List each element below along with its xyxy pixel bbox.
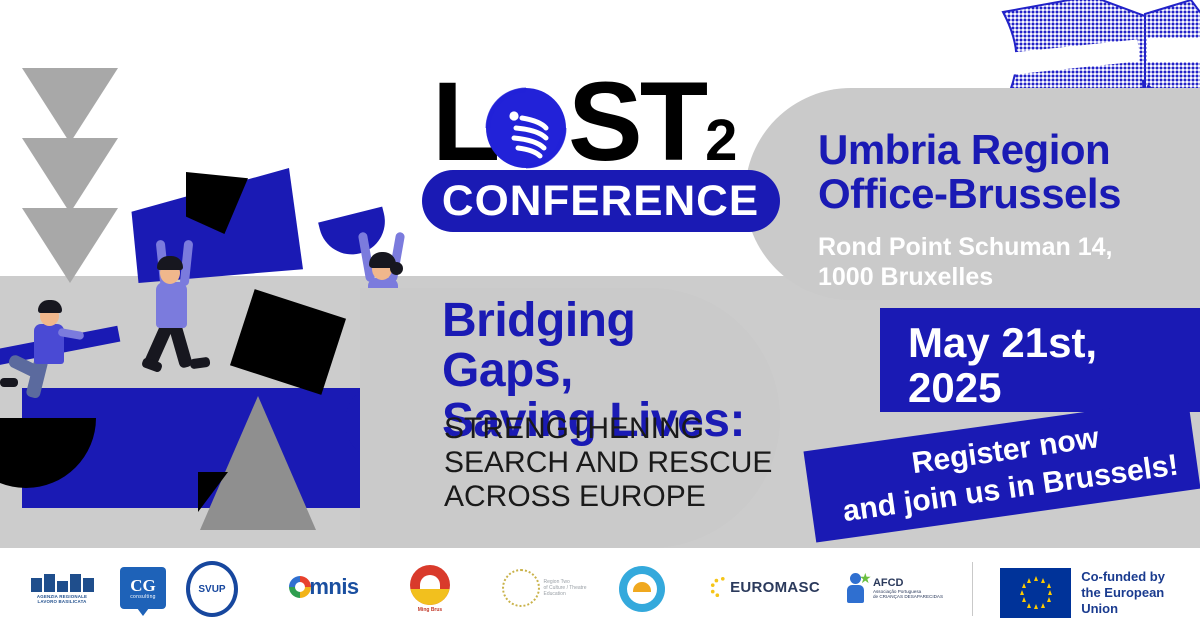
illustration-black-rotated-square	[230, 289, 346, 395]
afcd-label: AFCD	[873, 577, 943, 589]
page-subtitle-line1: STRENGTHENING	[444, 412, 774, 446]
venue-address-line2: 1000 Bruxelles	[818, 262, 1200, 292]
venue-address: Rond Point Schuman 14, 1000 Bruxelles	[818, 232, 1200, 292]
partner-logo-euromasc: EUROMASC	[710, 572, 820, 602]
page-subtitle: STRENGTHENING SEARCH AND RESCUE ACROSS E…	[444, 412, 774, 514]
eu-star	[1048, 590, 1052, 595]
partner-logo-arlab: AGENZIA REGIONALE LAVORO BASILICATA	[26, 566, 98, 612]
eu-star	[1022, 597, 1026, 602]
eu-funding-line2: the European Union	[1081, 585, 1200, 617]
illustration-person-3-hair-bun	[390, 262, 403, 275]
partner-logo-faint: Region Two of Culture / Theatre Educatio…	[496, 566, 592, 610]
omnis-mark-icon	[289, 576, 311, 598]
eu-star	[1027, 578, 1031, 583]
illustration-person-2-shoe-back	[189, 357, 210, 370]
partner-logo-afcd: ★ AFCD Associação Portuguesa de CRIANÇAS…	[834, 562, 954, 614]
arlab-mark-icon	[31, 574, 94, 592]
venue-name-line2: Office-Brussels	[818, 172, 1200, 216]
lost2-wordmark: L ST2	[420, 62, 780, 180]
conference-label: CONFERENCE	[442, 177, 759, 226]
eu-funding-emblem: Co-funded by the European Union	[1000, 568, 1200, 618]
lost2-conference-logo: L ST2 CONFERENCE	[420, 62, 780, 252]
eu-star	[1020, 590, 1024, 595]
page-title-line1: Bridging Gaps,	[442, 296, 772, 396]
eu-flag-icon	[1000, 568, 1071, 618]
logo-superscript-2: 2	[705, 108, 734, 173]
eu-star	[1047, 583, 1051, 588]
illustration-person-2-hair	[157, 256, 183, 270]
partner-logo-circle-blue	[614, 562, 670, 616]
page-subtitle-line3: ACROSS EUROPE	[444, 480, 774, 514]
afcd-mark-icon: ★	[845, 571, 867, 605]
venue-name-line1: Umbria Region	[818, 128, 1200, 172]
consulting-bubble-icon: CG consulting	[120, 567, 166, 609]
illustration-person-2-shoe-front	[141, 357, 163, 373]
conference-poster: L ST2 CONFERENCE Umbria Region Office-Br…	[0, 0, 1200, 630]
footer-divider	[972, 562, 973, 616]
illustration-person-1-shoe	[0, 378, 18, 387]
arlab-caption-line2: LAVORO BASILICATA	[37, 599, 86, 604]
illustration-person-1-hair	[38, 300, 62, 313]
faint-caption: Region Two of Culture / Theatre Educatio…	[540, 579, 587, 597]
venue-address-line1: Rond Point Schuman 14,	[818, 232, 1200, 262]
afcd-caption-line2: de CRIANÇAS DESAPARECIDAS	[873, 594, 943, 599]
eu-star	[1041, 603, 1045, 608]
consulting-monogram: CG	[130, 577, 156, 594]
eu-star	[1034, 576, 1038, 581]
partner-logo-consulting: CG consulting	[118, 562, 168, 614]
faint-caption-line3: Education	[544, 591, 587, 597]
omnis-label: mnis	[309, 574, 358, 600]
event-date-box: May 21st, 2025	[880, 308, 1200, 412]
illustration-black-small-triangle	[198, 472, 228, 512]
partner-logo-circle-red: Ming Brus	[400, 562, 460, 616]
faint-ring-icon	[502, 569, 540, 607]
euromasc-stars-icon	[710, 575, 730, 599]
venue-name: Umbria Region Office-Brussels	[818, 128, 1200, 216]
illustration-person-2-torso	[156, 282, 187, 328]
eu-star	[1041, 578, 1045, 583]
partner-logo-omnis: mnis	[282, 572, 366, 602]
eu-star	[1027, 603, 1031, 608]
event-date-line1: May 21st,	[908, 320, 1178, 365]
conference-pill: CONFERENCE	[422, 170, 780, 232]
svup-label: SVUP	[198, 584, 225, 595]
eu-funding-line1: Co-funded by	[1081, 569, 1200, 585]
lost2-orb-icon	[480, 82, 572, 174]
eu-star	[1034, 604, 1038, 609]
logo-st-text: ST	[568, 59, 705, 184]
event-date-line2: 2025	[908, 365, 1178, 410]
afcd-figure-icon	[845, 571, 867, 605]
circle-red-caption: Ming Brus	[418, 607, 442, 613]
page-subtitle-line2: SEARCH AND RESCUE	[444, 446, 774, 480]
eu-funding-text: Co-funded by the European Union	[1081, 569, 1200, 617]
event-date-text: May 21st, 2025	[908, 320, 1178, 410]
eu-star	[1047, 597, 1051, 602]
eu-star	[1022, 583, 1026, 588]
afcd-text: AFCD Associação Portuguesa de CRIANÇAS D…	[873, 577, 943, 600]
consulting-label: consulting	[130, 594, 156, 600]
svup-seal-icon: SVUP	[186, 561, 238, 617]
euromasc-label: EUROMASC	[730, 579, 820, 596]
circle-blue-icon	[619, 566, 665, 612]
circle-red-icon	[410, 565, 450, 605]
partner-logo-svup: SVUP	[186, 564, 238, 614]
